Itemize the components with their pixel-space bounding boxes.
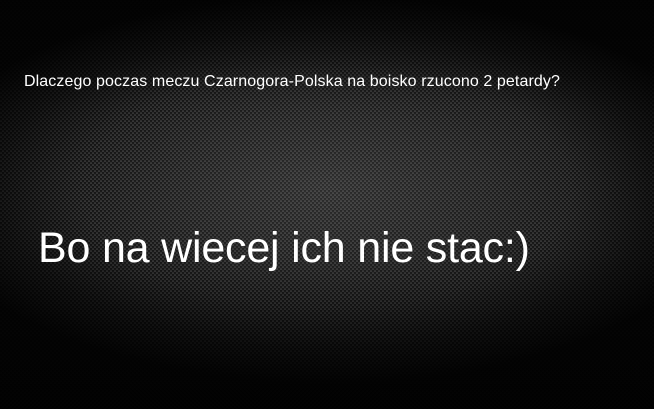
punchline-text: Bo na wiecej ich nie stac:)	[38, 222, 530, 274]
question-text: Dlaczego poczas meczu Czarnogora-Polska …	[24, 72, 560, 92]
meme-card: Dlaczego poczas meczu Czarnogora-Polska …	[0, 0, 654, 409]
text-content: Dlaczego poczas meczu Czarnogora-Polska …	[0, 0, 654, 409]
